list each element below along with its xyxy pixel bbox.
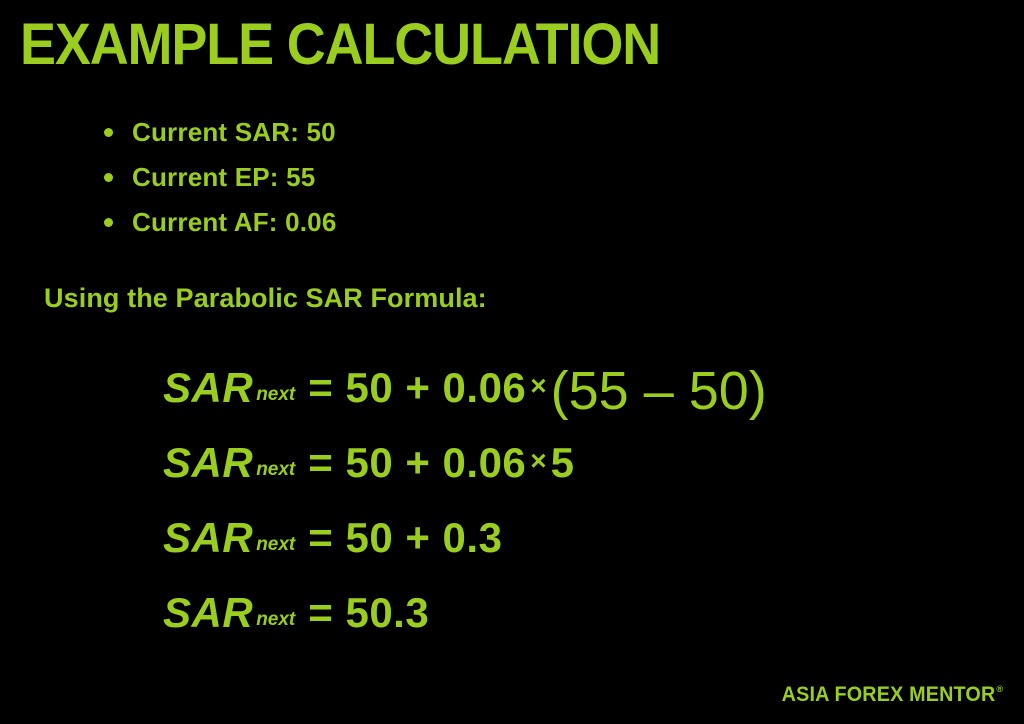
registered-trademark-icon: ®	[996, 684, 1003, 694]
formula-lhs: SAR	[163, 364, 253, 412]
multiply-icon: ×	[526, 445, 550, 477]
formula-subscript: next	[256, 534, 295, 556]
list-item: Current SAR: 50	[104, 110, 337, 155]
formula-subscript: next	[256, 384, 295, 406]
formula-rhs: = 50.3	[308, 589, 429, 637]
formula-row: SAR next = 50 + 0.3	[163, 500, 767, 575]
brand-logo-text: ASIA FOREX MENTOR	[782, 683, 996, 707]
bullet-dot-icon	[104, 173, 113, 182]
formula-row: SAR next = 50 + 0.06 × 5	[163, 425, 767, 500]
formula-tail: (55 – 50)	[551, 360, 767, 422]
bullet-dot-icon	[104, 128, 113, 137]
slide-canvas: EXAMPLE CALCULATION Current SAR: 50 Curr…	[0, 0, 1024, 724]
list-item: Current EP: 55	[104, 155, 337, 200]
list-item: Current AF: 0.06	[104, 200, 337, 245]
list-item-label: Current SAR: 50	[132, 117, 336, 148]
formula-rhs: = 50 + 0.06	[308, 364, 526, 412]
formula-lhs: SAR	[163, 439, 253, 487]
formula-subscript: next	[256, 459, 295, 481]
multiply-icon: ×	[526, 370, 550, 402]
formula-rhs: = 50 + 0.3	[308, 514, 502, 562]
bullet-list: Current SAR: 50 Current EP: 55 Current A…	[104, 110, 337, 245]
list-item-label: Current EP: 55	[132, 162, 315, 193]
formula-intro-text: Using the Parabolic SAR Formula:	[44, 283, 487, 314]
formula-rhs: = 50 + 0.06	[308, 439, 526, 487]
formula-subscript: next	[256, 609, 295, 631]
formula-lhs: SAR	[163, 589, 253, 637]
formula-row: SAR next = 50 + 0.06 × (55 – 50)	[163, 350, 767, 425]
formula-tail: 5	[551, 439, 575, 487]
formula-list: SAR next = 50 + 0.06 × (55 – 50) SAR nex…	[163, 350, 767, 650]
formula-row: SAR next = 50.3	[163, 575, 767, 650]
bullet-dot-icon	[104, 218, 113, 227]
page-title: EXAMPLE CALCULATION	[20, 16, 660, 74]
formula-lhs: SAR	[163, 514, 253, 562]
brand-logo: ASIA FOREX MENTOR ®	[768, 683, 1002, 707]
list-item-label: Current AF: 0.06	[132, 207, 337, 238]
